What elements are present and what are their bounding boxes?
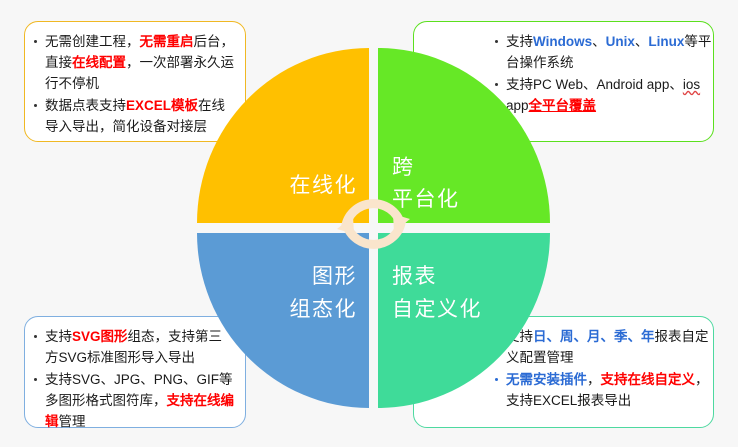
diagram-canvas: 无需创建工程，无需重启后台，直接在线配置，一次部署永久运行不停机数据点表支持EX…	[0, 0, 738, 447]
callout-text-run: 支持	[506, 34, 533, 49]
callout-text-run: SVG图形	[72, 329, 128, 344]
wheel-quadrant-graphic-label: 图形 组态化	[290, 261, 358, 326]
callout-text-run: 管理	[59, 414, 86, 429]
wheel-quadrant-platform-label: 跨 平台化	[392, 152, 460, 217]
callout-text-run: ，	[587, 372, 601, 387]
callout-text-run: 在线配置	[72, 55, 126, 70]
callout-text-run: Windows	[533, 34, 592, 49]
wheel-quadrant-graphic[interactable]: 图形 组态化	[197, 233, 369, 408]
callout-text-run: 数据点表支持	[45, 98, 126, 113]
wheel-quadrant-report[interactable]: 报表 自定义化	[378, 233, 550, 408]
callout-text-run: Unix	[606, 34, 635, 49]
callout-text-run: EXCEL模板	[126, 98, 198, 113]
callout-text-run: 支持	[45, 329, 72, 344]
wheel-quadrant-platform[interactable]: 跨 平台化	[378, 48, 550, 223]
callout-text-run: 无需创建工程，	[45, 34, 140, 49]
callout-text-run: 、	[635, 34, 649, 49]
wheel-quadrant-online-label: 在线化	[290, 170, 358, 203]
callout-text-run: Linux	[648, 34, 684, 49]
callout-text-run: 支持在线自定义	[601, 372, 696, 387]
callout-text-run: 无需重启	[140, 34, 194, 49]
callout-text-run: 、	[592, 34, 606, 49]
callout-text-run: 日、周、月、季、年	[533, 329, 655, 344]
wheel-quadrant-report-label: 报表 自定义化	[392, 261, 482, 326]
callout-text-run: ios	[683, 77, 700, 92]
wheel-quadrant-online[interactable]: 在线化	[197, 48, 369, 223]
feature-wheel: 在线化 跨 平台化 图形 组态化 报表 自定义化	[197, 48, 550, 408]
